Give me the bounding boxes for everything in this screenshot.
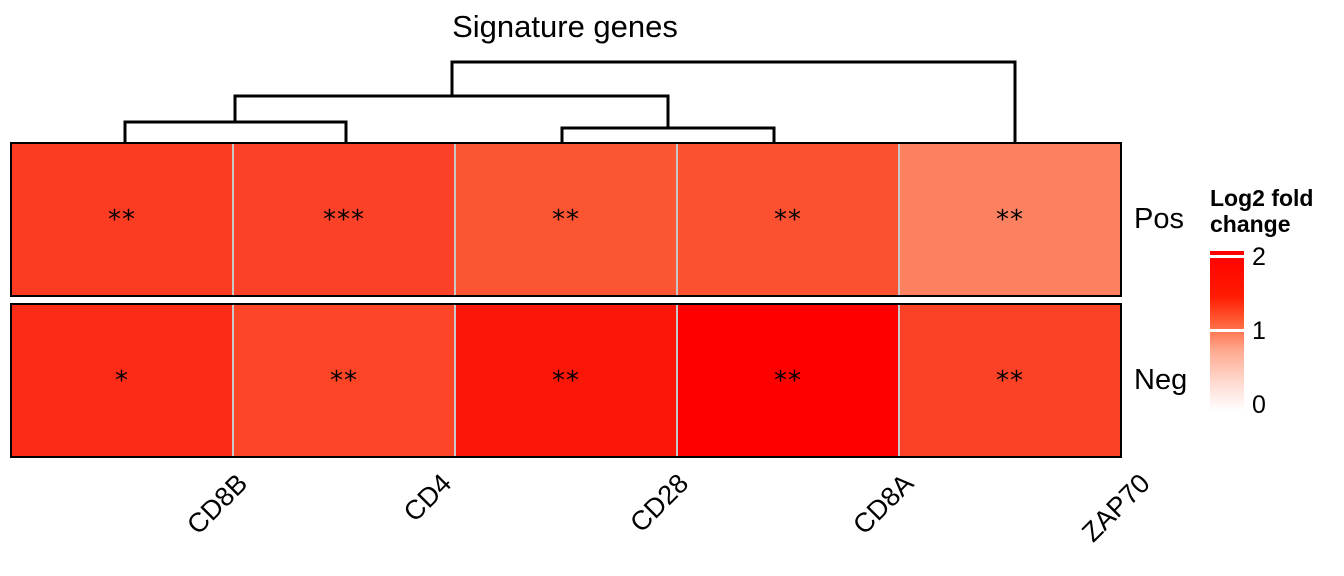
legend-tick-label-2: 2 bbox=[1252, 245, 1266, 270]
gene-label-cd28: CD28 bbox=[624, 468, 695, 539]
heatmap-row-neg: * ** ** ** ** bbox=[10, 303, 1122, 458]
heatmap-cell-pos-cd4[interactable]: *** bbox=[234, 144, 456, 295]
legend: Log2 fold change 2 1 0 bbox=[1210, 185, 1344, 237]
heatmap-cell-pos-cd8b[interactable]: ** bbox=[12, 144, 234, 295]
gene-label-cd4: CD4 bbox=[398, 468, 458, 528]
gene-label-cd8b: CD8B bbox=[181, 468, 254, 541]
heatmap-cell-neg-cd8a[interactable]: ** bbox=[678, 305, 900, 456]
legend-tick-label-1: 1 bbox=[1252, 319, 1266, 344]
dendro-merge-cd8b-cd4 bbox=[125, 122, 346, 142]
significance-marker: ** bbox=[996, 368, 1024, 394]
significance-marker: ** bbox=[552, 368, 580, 394]
significance-marker: ** bbox=[996, 207, 1024, 233]
legend-title-line2: change bbox=[1210, 211, 1344, 237]
significance-marker: ** bbox=[774, 368, 802, 394]
significance-marker: * bbox=[115, 368, 129, 394]
legend-tick-2 bbox=[1210, 255, 1244, 258]
heatmap-cell-neg-cd4[interactable]: ** bbox=[234, 305, 456, 456]
significance-marker: ** bbox=[552, 207, 580, 233]
legend-title-line1: Log2 fold bbox=[1210, 185, 1344, 211]
significance-marker: ** bbox=[774, 207, 802, 233]
heatmap-cell-neg-zap70[interactable]: ** bbox=[900, 305, 1120, 456]
heatmap-cell-neg-cd8b[interactable]: * bbox=[12, 305, 234, 456]
legend-tick-1 bbox=[1210, 329, 1244, 332]
legend-colorbar: 2 1 0 bbox=[1210, 251, 1330, 411]
dendro-merge-root bbox=[452, 62, 1015, 142]
gene-label-cd8a: CD8A bbox=[847, 468, 920, 541]
row-label-neg: Neg bbox=[1134, 364, 1187, 397]
heatmap-cell-pos-cd8a[interactable]: ** bbox=[678, 144, 900, 295]
significance-marker: ** bbox=[330, 368, 358, 394]
legend-tick-label-0: 0 bbox=[1252, 393, 1266, 418]
significance-marker: ** bbox=[108, 207, 136, 233]
gene-label-zap70: ZAP70 bbox=[1076, 468, 1156, 548]
heatmap-row-pos: ** *** ** ** ** bbox=[10, 142, 1122, 297]
dendro-merge-cd28-cd8a bbox=[562, 128, 774, 142]
heatmap-cell-pos-cd28[interactable]: ** bbox=[456, 144, 678, 295]
heatmap-cell-pos-zap70[interactable]: ** bbox=[900, 144, 1120, 295]
row-label-pos: Pos bbox=[1134, 203, 1184, 236]
heatmap-cell-neg-cd28[interactable]: ** bbox=[456, 305, 678, 456]
heatmap-figure: Signature genes ** *** ** ** ** bbox=[0, 0, 1344, 576]
significance-marker: *** bbox=[323, 207, 365, 233]
page-title: Signature genes bbox=[0, 8, 1130, 46]
dendrogram bbox=[0, 50, 1130, 142]
